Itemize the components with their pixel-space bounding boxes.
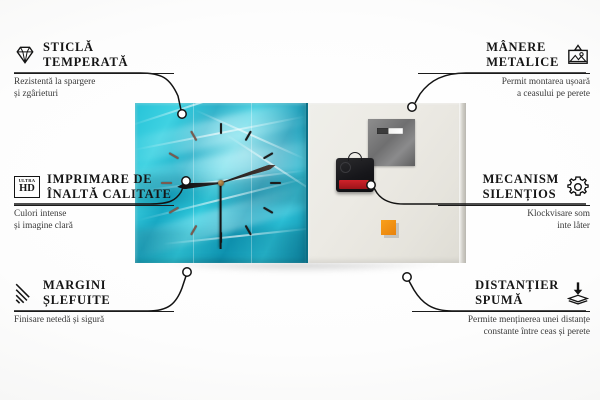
feature-edges-header: MARGINI ȘLEFUITE: [14, 278, 174, 307]
quartz-clock-mechanism: [336, 158, 374, 192]
gear-icon: [566, 175, 590, 199]
feature-edges-subtitle: Finisare netedă și sigură: [14, 315, 174, 326]
feature-print: ultra HD IMPRIMARE DE ÎNALTĂ CALITATE Cu…: [14, 172, 174, 232]
feature-glass: STICLĂ TEMPERATĂ Rezistentă la spargere …: [14, 40, 174, 100]
product-photo: [135, 103, 466, 271]
battery-terminal: [367, 181, 372, 187]
feature-glass-title: STICLĂ TEMPERATĂ: [43, 40, 128, 69]
picture-hanger-icon: [566, 44, 590, 66]
press-down-pad-icon: [566, 281, 590, 305]
metal-hanger-plate: [368, 119, 415, 166]
feature-mechanism-header: MECANISM SILENȚIOS: [438, 172, 590, 201]
feature-edges: MARGINI ȘLEFUITE Finisare netedă și sigu…: [14, 278, 174, 327]
clock-center-cap: [218, 180, 224, 186]
feature-mechanism-rule: [438, 205, 590, 206]
feature-print-title: IMPRIMARE DE ÎNALTĂ CALITATE: [47, 172, 172, 201]
feature-glass-rule: [14, 73, 174, 74]
hour-marker: [220, 123, 222, 183]
feature-spacer-rule: [412, 311, 590, 312]
ultra-hd-icon: ultra HD: [14, 176, 40, 198]
feature-hooks-title: MÂNERE METALICE: [486, 40, 559, 69]
feature-mechanism: MECANISM SILENȚIOS Klockvisare som inte …: [438, 172, 590, 232]
ultra-hd-icon-big-label: HD: [19, 184, 35, 195]
infographic-canvas: STICLĂ TEMPERATĂ Rezistentă la spargere …: [0, 0, 600, 400]
feature-spacer-subtitle: Permite menținerea unei distanțe constan…: [412, 315, 590, 338]
feature-glass-header: STICLĂ TEMPERATĂ: [14, 40, 174, 69]
feature-mechanism-subtitle: Klockvisare som inte låter: [438, 209, 590, 232]
feature-edges-rule: [14, 311, 174, 312]
feature-spacer-header: DISTANȚIER SPUMĂ: [412, 278, 590, 307]
feature-spacer-title: DISTANȚIER SPUMĂ: [475, 278, 559, 307]
mechanism-dial: [340, 162, 351, 173]
mechanism-bail: [348, 152, 362, 161]
feature-spacer: DISTANȚIER SPUMĂ Permite menținerea unei…: [412, 278, 590, 338]
feature-print-rule: [14, 205, 174, 206]
feature-edges-title: MARGINI ȘLEFUITE: [43, 278, 110, 307]
foam-spacer: [381, 220, 396, 235]
hour-marker: [221, 182, 281, 184]
feature-print-subtitle: Culori intense și imagine clară: [14, 209, 174, 232]
feature-print-header: ultra HD IMPRIMARE DE ÎNALTĂ CALITATE: [14, 172, 174, 201]
polished-edges-icon: [14, 282, 36, 304]
feature-hooks-subtitle: Permit montarea ușoară a ceasului pe per…: [418, 77, 590, 100]
hanger-slot: [377, 128, 403, 134]
clock-second-hand: [220, 183, 222, 249]
feature-glass-subtitle: Rezistentă la spargere și zgârieturi: [14, 77, 174, 100]
diamond-icon: [14, 45, 36, 65]
battery: [339, 180, 369, 189]
feature-mechanism-title: MECANISM SILENȚIOS: [483, 172, 559, 201]
feature-hooks: MÂNERE METALICE Permit montarea ușoară a…: [418, 40, 590, 100]
feature-hooks-rule: [418, 73, 590, 74]
feature-hooks-header: MÂNERE METALICE: [418, 40, 590, 69]
